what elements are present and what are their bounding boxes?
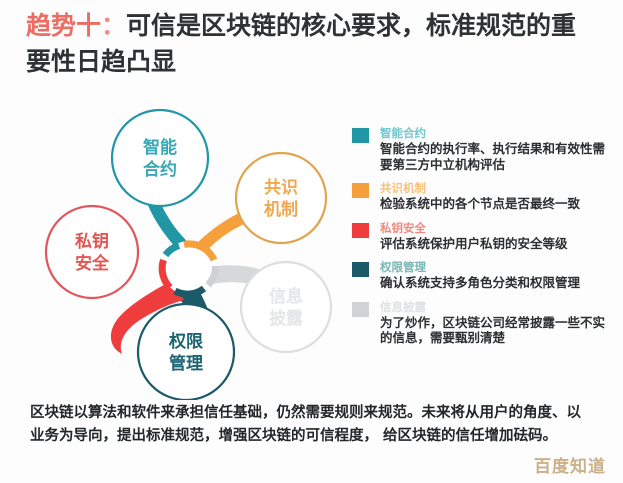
legend-text-consensus: 共识机制 检验系统中的各个节点是否最终一致: [380, 181, 607, 212]
title-accent-text: 趋势十: [26, 11, 101, 40]
infographic-page: 趋势十：可信是区块链的核心要求，标准规范的重要性日趋凸显: [0, 0, 623, 483]
legend-item-smart-contract[interactable]: 智能合约 智能合约的执行率、执行结果和有效性需要第三方中立机构评估: [352, 126, 607, 172]
legend-swatch-private-key: [352, 223, 369, 238]
legend-desc-permission: 确认系统支持多角色分类和权限管理: [380, 275, 607, 291]
legend-title-private-key: 私钥安全: [380, 221, 607, 235]
pinwheel-diagram: 智能 合约 共识 机制 信息 披露 权限 管理: [18, 100, 348, 400]
node-consensus-label-2: 机制: [264, 199, 298, 220]
legend-desc-private-key: 评估系统保护用户私钥的安全等级: [380, 236, 607, 252]
node-consensus-label-1: 共识: [264, 178, 298, 198]
legend-title-disclosure: 信息披露: [380, 300, 607, 314]
legend-item-permission[interactable]: 权限管理 确认系统支持多角色分类和权限管理: [352, 260, 607, 291]
legend-swatch-smart-contract: [352, 128, 369, 143]
legend-title-smart-contract: 智能合约: [380, 126, 607, 140]
watermark-baidu-zhidao: 百度知道: [534, 452, 606, 477]
legend-item-consensus[interactable]: 共识机制 检验系统中的各个节点是否最终一致: [352, 181, 607, 212]
node-private-key-label-2: 安全: [75, 253, 110, 274]
legend-swatch-permission: [352, 262, 369, 277]
title-colon: ：: [101, 11, 126, 40]
node-private-key-label-1: 私钥: [75, 231, 109, 252]
legend-desc-disclosure: 为了炒作，区块链公司经常披露一些不实的信息，需要甄别清楚: [380, 315, 607, 346]
footer-note: 区块链以算法和软件来承担信任基础，仍然需要规则来规范。未来将从用户的角度、以业务…: [30, 402, 595, 448]
node-permission-label-2: 管理: [169, 353, 203, 374]
node-smart-contract[interactable]: 智能 合约: [112, 110, 208, 206]
legend-text-permission: 权限管理 确认系统支持多角色分类和权限管理: [380, 260, 607, 291]
legend-text-disclosure: 信息披露 为了炒作，区块链公司经常披露一些不实的信息，需要甄别清楚: [380, 300, 607, 346]
center-ring: [162, 241, 216, 295]
node-permission[interactable]: 权限 管理: [138, 304, 234, 400]
legend-text-private-key: 私钥安全 评估系统保护用户私钥的安全等级: [380, 221, 607, 252]
page-title: 趋势十：可信是区块链的核心要求，标准规范的重要性日趋凸显: [26, 8, 601, 80]
legend-item-private-key[interactable]: 私钥安全 评估系统保护用户私钥的安全等级: [352, 221, 607, 252]
legend-text-smart-contract: 智能合约 智能合约的执行率、执行结果和有效性需要第三方中立机构评估: [380, 126, 607, 172]
legend-desc-consensus: 检验系统中的各个节点是否最终一致: [380, 196, 607, 212]
node-private-key[interactable]: 私钥 安全: [46, 206, 138, 298]
legend-desc-smart-contract: 智能合约的执行率、执行结果和有效性需要第三方中立机构评估: [380, 141, 607, 172]
legend-title-consensus: 共识机制: [380, 181, 607, 195]
legend-title-permission: 权限管理: [380, 260, 607, 274]
node-disclosure[interactable]: 信息 披露: [241, 262, 331, 352]
legend-item-disclosure[interactable]: 信息披露 为了炒作，区块链公司经常披露一些不实的信息，需要甄别清楚: [352, 300, 607, 346]
legend-swatch-disclosure: [352, 302, 369, 317]
node-consensus[interactable]: 共识 机制: [236, 153, 326, 243]
legend: 智能合约 智能合约的执行率、执行结果和有效性需要第三方中立机构评估 共识机制 检…: [352, 126, 607, 355]
node-disclosure-label-1: 信息: [269, 286, 303, 307]
node-smart-contract-label-1: 智能: [143, 137, 177, 158]
node-smart-contract-label-2: 合约: [143, 159, 177, 180]
legend-swatch-consensus: [352, 183, 369, 198]
node-permission-label-1: 权限: [168, 331, 203, 352]
node-disclosure-label-2: 披露: [269, 308, 304, 329]
